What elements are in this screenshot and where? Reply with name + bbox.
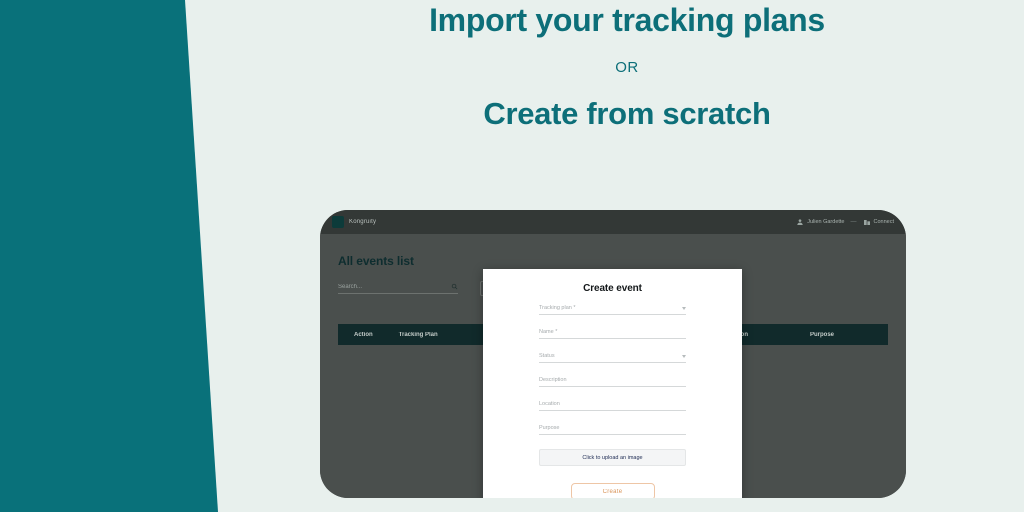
- chevron-down-icon: [682, 307, 686, 310]
- field-status-label: Status: [539, 353, 555, 359]
- field-tracking-plan-label: Tracking plan *: [539, 305, 575, 311]
- create-event-form: Tracking plan * Name * Status Descriptio…: [483, 294, 742, 498]
- decorative-teal-panel: [0, 0, 230, 512]
- field-status[interactable]: Status: [539, 353, 686, 363]
- create-button-label: Create: [603, 489, 623, 495]
- field-description[interactable]: Description: [539, 377, 686, 387]
- search-input[interactable]: Search...: [338, 283, 458, 294]
- field-tracking-plan[interactable]: Tracking plan *: [539, 305, 686, 315]
- hero-line-import: Import your tracking plans: [230, 0, 1024, 39]
- topbar-separator: —: [851, 219, 857, 225]
- field-location[interactable]: Location: [539, 401, 686, 411]
- brand-logo-icon: [332, 216, 344, 228]
- table-column-purpose: Purpose: [810, 332, 834, 338]
- page-title: All events list: [338, 254, 414, 268]
- app-body: All events list Search... Tracking plan …: [320, 234, 906, 498]
- create-event-modal: Create event Tracking plan * Name * Stat…: [483, 269, 742, 498]
- field-purpose-label: Purpose: [539, 425, 560, 431]
- modal-actions: Create: [539, 483, 686, 498]
- app-topbar: Kongruity Julien Gardette — Connect: [320, 210, 906, 234]
- user-icon: [796, 218, 804, 226]
- chevron-down-icon: [682, 355, 686, 358]
- topbar-workspace-menu[interactable]: Connect: [863, 218, 895, 226]
- hero-connector-or: OR: [230, 39, 1024, 76]
- app-brand[interactable]: Kongruity: [332, 216, 376, 228]
- device-frame: Kongruity Julien Gardette — Connect All …: [320, 210, 906, 498]
- topbar-right-group: Julien Gardette — Connect: [796, 218, 894, 226]
- field-name-label: Name *: [539, 329, 557, 335]
- upload-image-label: Click to upload an image: [582, 455, 642, 461]
- search-placeholder-label: Search...: [338, 284, 362, 290]
- field-description-label: Description: [539, 377, 567, 383]
- brand-name-label: Kongruity: [349, 219, 376, 225]
- building-icon: [863, 218, 871, 226]
- create-button[interactable]: Create: [571, 483, 655, 498]
- table-column-tracking-plan: Tracking Plan: [399, 332, 438, 338]
- hero-line-create: Create from scratch: [230, 76, 1024, 133]
- hero-headline-block: Import your tracking plans OR Create fro…: [230, 0, 1024, 133]
- topbar-workspace-name: Connect: [874, 219, 895, 225]
- field-location-label: Location: [539, 401, 560, 407]
- topbar-user-name: Julien Gardette: [807, 219, 844, 225]
- field-name[interactable]: Name *: [539, 329, 686, 339]
- search-icon[interactable]: [451, 283, 458, 290]
- upload-image-button[interactable]: Click to upload an image: [539, 449, 686, 466]
- table-column-action: Action: [354, 332, 373, 338]
- topbar-user-menu[interactable]: Julien Gardette: [796, 218, 844, 226]
- modal-title: Create event: [483, 269, 742, 294]
- field-purpose[interactable]: Purpose: [539, 425, 686, 435]
